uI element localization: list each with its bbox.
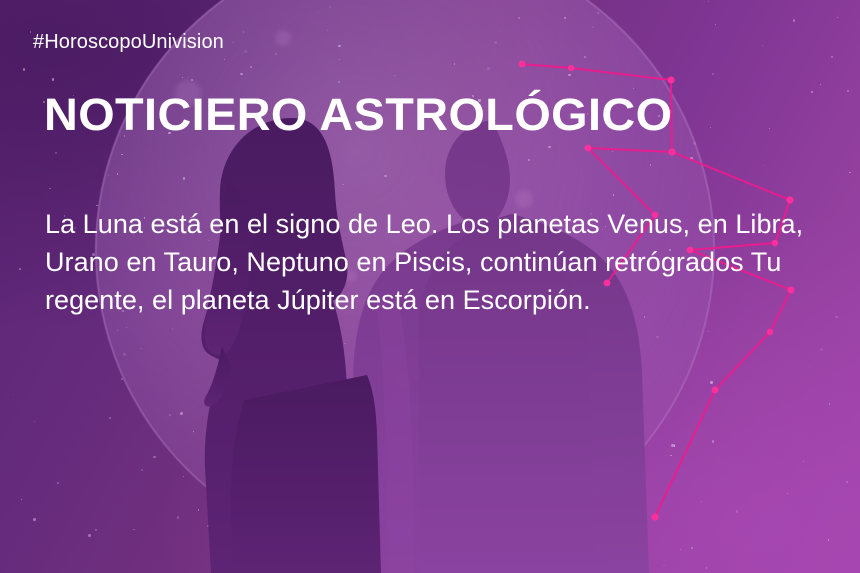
hashtag-label: #HoroscopoUnivision bbox=[33, 31, 224, 54]
woman-lower-body bbox=[231, 375, 381, 573]
page-title: NOTICIERO ASTROLÓGICO bbox=[44, 92, 672, 138]
horoscope-graphic-card: #HoroscopoUnivision NOTICIERO ASTROLÓGIC… bbox=[0, 0, 860, 573]
horoscope-body-text: La Luna está en el signo de Leo. Los pla… bbox=[45, 205, 835, 319]
